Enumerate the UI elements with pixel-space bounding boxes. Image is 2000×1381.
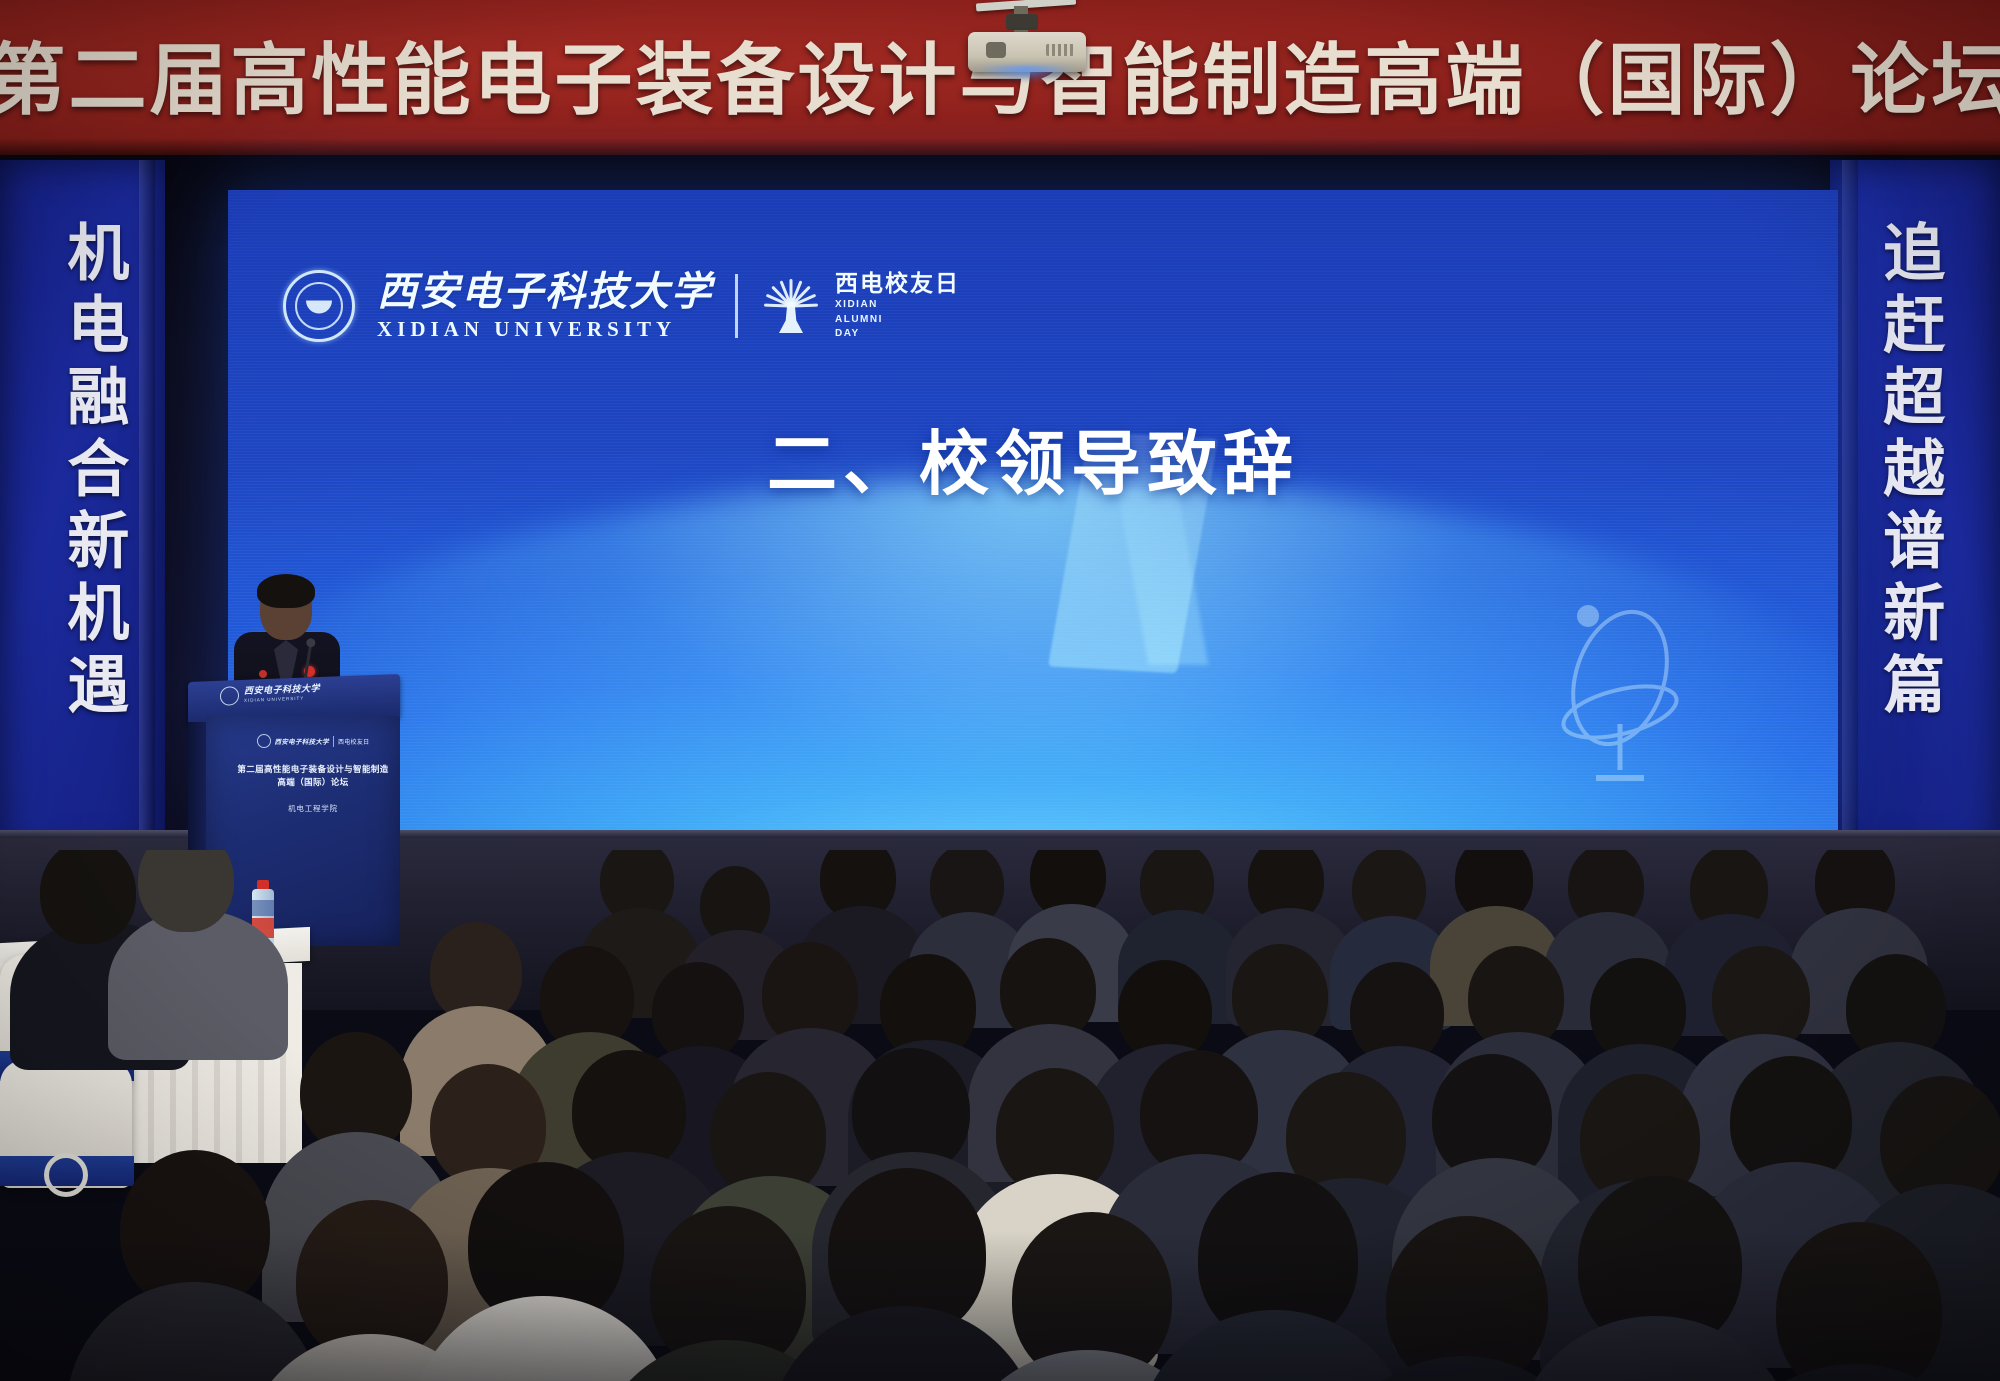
- podium-seal-icon: [220, 686, 239, 706]
- podium-sign-alumni: 西电校友日: [338, 737, 370, 746]
- alumni-day-logo: 西电校友日 XIDIAN ALUMNI DAY: [760, 272, 960, 340]
- projector-beam-glow: [976, 66, 1076, 82]
- speaker-hair: [257, 574, 315, 608]
- podium-sign-university: 西安电子科技大学: [275, 736, 329, 746]
- xidian-seal-icon: [283, 270, 355, 342]
- podium-sign-title: 第二届高性能电子装备设计与智能制造高端（国际）论坛: [236, 764, 390, 790]
- alumni-name-en-1: XIDIAN: [835, 300, 960, 311]
- podium-logo-en: XIDIAN UNIVERSITY: [244, 696, 320, 703]
- right-vertical-banner: 追赶超越谱新篇: [1830, 160, 2000, 860]
- projector-bracket: [1006, 14, 1038, 30]
- alumni-name-en-3: DAY: [835, 329, 960, 340]
- podium-sign-divider: [333, 736, 334, 747]
- ceiling-projector-icon: [962, 0, 1092, 80]
- speaker-badge-secondary: [259, 670, 267, 678]
- projector-lens: [986, 42, 1006, 58]
- alumni-name-en-2: ALUMNI: [835, 315, 960, 326]
- xidian-name-en: XIDIAN UNIVERSITY: [377, 319, 713, 340]
- slide-headline: 二、校领导致辞: [228, 408, 1838, 509]
- left-vertical-banner: 机电融合新机遇: [0, 160, 165, 860]
- audience-crowd: [0, 850, 2000, 1381]
- podium-sign-logo-row: 西安电子科技大学 西电校友日: [236, 734, 390, 748]
- podium-logo-cn: 西安电子科技大学: [244, 685, 320, 697]
- left-banner-text: 机电融合新机遇: [61, 220, 123, 724]
- projection-screen: 西安电子科技大学 XIDIAN UNIVERSITY: [228, 190, 1838, 830]
- alumni-name-cn: 西电校友日: [835, 272, 960, 296]
- podium-top-logo: 西安电子科技大学 XIDIAN UNIVERSITY: [220, 683, 320, 706]
- podium-sign-subtitle: 机电工程学院: [236, 803, 390, 814]
- alumni-tower-icon: [779, 305, 803, 333]
- alumni-burst-icon: [760, 275, 822, 337]
- projector-vent: [1046, 44, 1074, 56]
- logo-divider: [735, 274, 738, 338]
- satellite-dish-icon: [1548, 600, 1698, 785]
- alumni-wordmark: 西电校友日 XIDIAN ALUMNI DAY: [835, 272, 960, 340]
- xidian-name-cn: 西安电子科技大学: [377, 272, 713, 312]
- banner-fold: [1842, 160, 1858, 860]
- banner-fold: [139, 160, 155, 860]
- xidian-wordmark: 西安电子科技大学 XIDIAN UNIVERSITY: [377, 272, 713, 340]
- right-banner-text: 追赶超越谱新篇: [1877, 220, 1939, 724]
- podium-sign: 西安电子科技大学 西电校友日 第二届高性能电子装备设计与智能制造高端（国际）论坛…: [236, 734, 390, 814]
- podium-sign-seal-icon: [257, 734, 271, 748]
- conference-hall-scene: 第二届高性能电子装备设计与智能制造高端（国际）论坛 机电融合新机遇 追赶超越谱新…: [0, 0, 2000, 1381]
- slide-logo-row: 西安电子科技大学 XIDIAN UNIVERSITY: [283, 270, 960, 342]
